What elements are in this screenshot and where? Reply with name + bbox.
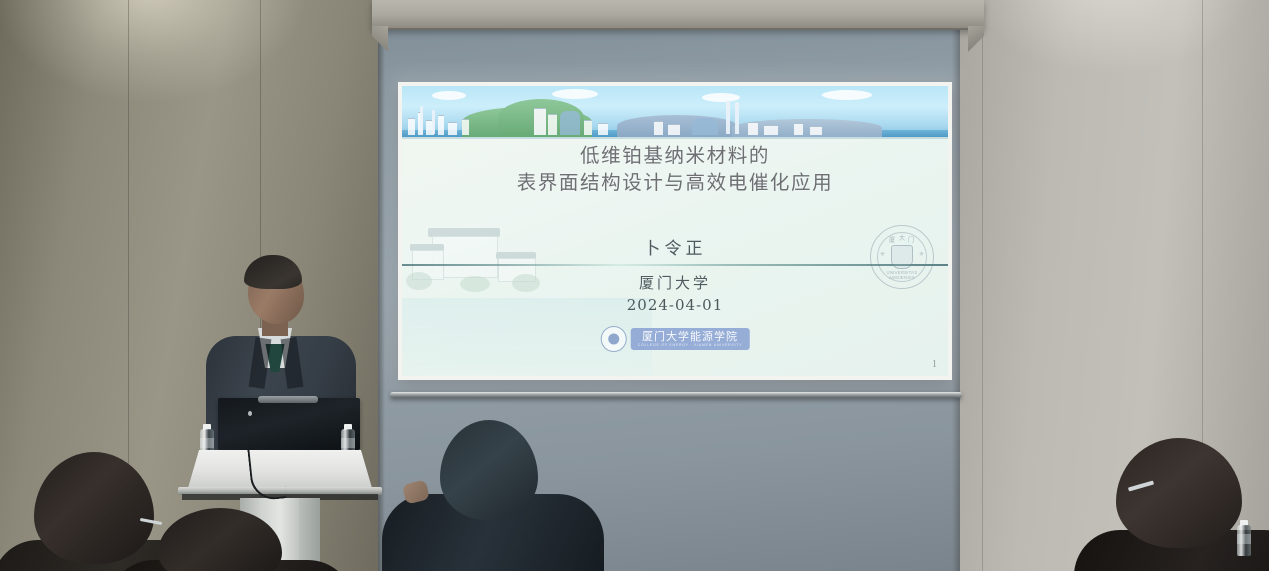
slide-page-number: 1 (932, 359, 937, 370)
slide-divider-rule (402, 264, 948, 266)
slide-title-line-2: 表界面结构设计与高效电催化应用 (402, 169, 948, 196)
presentation-room-scene: 低维铂基纳米材料的 表界面结构设计与高效电催化应用 卜令正 厦门大学 2024-… (0, 0, 1269, 571)
slide-date: 2024-04-01 (402, 296, 948, 314)
slide-title-page: 低维铂基纳米材料的 表界面结构设计与高效电催化应用 卜令正 厦门大学 2024-… (402, 86, 948, 376)
monitor-stand (258, 396, 318, 403)
projection-screen: 低维铂基纳米材料的 表界面结构设计与高效电催化应用 卜令正 厦门大学 2024-… (398, 82, 952, 380)
wall-seam (982, 0, 983, 571)
audience-member-left-lower (128, 508, 328, 571)
college-of-energy-logo: 厦门大学能源学院 COLLEGE OF ENERGY · XIAMEN UNIV… (601, 326, 750, 352)
attendee-head (158, 508, 282, 571)
monitor-indicator-light (248, 411, 252, 416)
presenter-name: 卜令正 (402, 234, 948, 259)
university-seal-icon: ✳ ✳ 厦 大 门 UNIVERSITAS AMOIENSIS (870, 225, 934, 289)
projector-screen-housing (372, 0, 984, 30)
seal-latin-text: UNIVERSITAS AMOIENSIS (878, 270, 926, 280)
college-logo-chinese: 厦门大学能源学院 (638, 331, 743, 342)
university-emblem-icon (601, 326, 627, 352)
water-bottle (1237, 520, 1252, 571)
college-logo-english: COLLEGE OF ENERGY · XIAMEN UNIVERSITY (638, 344, 743, 348)
attendee-head (440, 420, 538, 520)
presenter-hair (244, 255, 302, 289)
screen-weight-bar (390, 392, 962, 398)
slide-banner-panorama (402, 86, 948, 137)
attendee-head (1116, 438, 1242, 548)
slide-title-line-1: 低维铂基纳米材料的 (402, 142, 948, 169)
slide-title: 低维铂基纳米材料的 表界面结构设计与高效电催化应用 (402, 142, 948, 196)
presenter-affiliation: 厦门大学 (402, 272, 948, 293)
banner-baseline (402, 137, 948, 139)
